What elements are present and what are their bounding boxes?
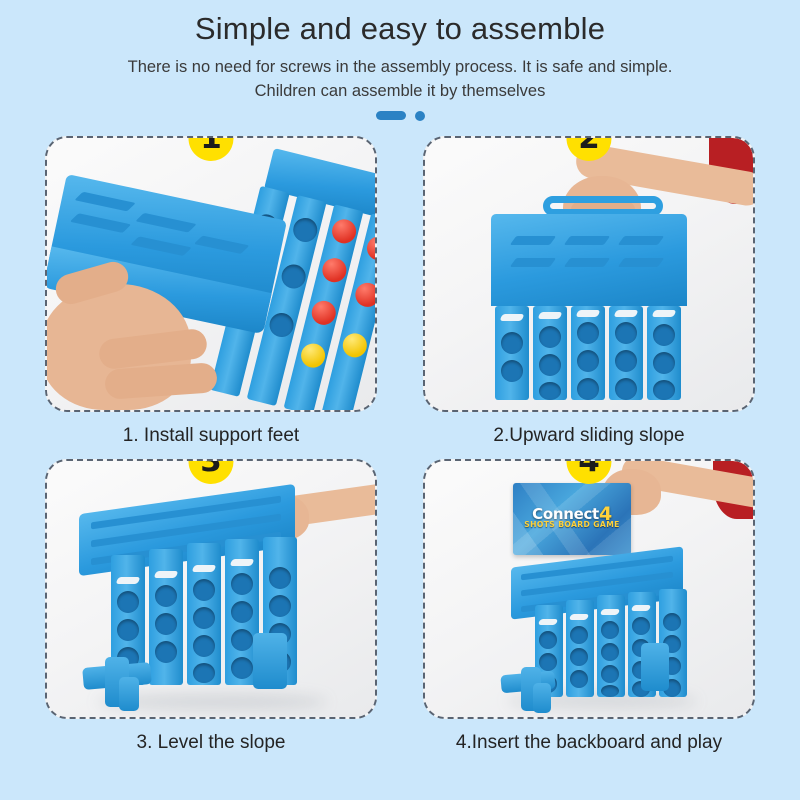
scene-insert-backboard: Connect4 SHOTS BOARD GAME — [425, 461, 753, 717]
infographic-page: Simple and easy to assemble There is no … — [0, 0, 800, 800]
step-4: Connect4 SHOTS BOARD GAME — [423, 459, 755, 754]
step-4-caption: 4.Insert the backboard and play — [423, 732, 755, 754]
step-2-photo: 2 — [423, 136, 755, 412]
scene-upward-sliding-slope — [425, 138, 753, 410]
steps-grid: 1 1. Install support feet — [0, 136, 800, 754]
backboard: Connect4 SHOTS BOARD GAME — [513, 483, 631, 555]
scene-install-support-feet — [47, 138, 375, 410]
pagination-dot-2[interactable] — [415, 111, 425, 121]
step-4-photo: Connect4 SHOTS BOARD GAME — [423, 459, 755, 719]
step-2: 2 2.Upward sliding slope — [423, 136, 755, 447]
step-1: 1 1. Install support feet — [45, 136, 377, 447]
pagination-dot-active[interactable] — [376, 111, 406, 120]
page-subtitle: There is no need for screws in the assem… — [120, 56, 680, 104]
page-title: Simple and easy to assemble — [0, 12, 800, 47]
step-2-caption: 2.Upward sliding slope — [423, 425, 755, 447]
header: Simple and easy to assemble There is no … — [0, 0, 800, 121]
step-1-caption: 1. Install support feet — [45, 425, 377, 447]
pagination-dots[interactable] — [0, 111, 800, 121]
backboard-subtitle: SHOTS BOARD GAME — [513, 520, 631, 529]
step-1-photo: 1 — [45, 136, 377, 412]
step-3: 3 3. Level the slope — [45, 459, 377, 754]
scene-level-the-slope — [47, 461, 375, 717]
step-3-caption: 3. Level the slope — [45, 732, 377, 754]
step-3-photo: 3 — [45, 459, 377, 719]
